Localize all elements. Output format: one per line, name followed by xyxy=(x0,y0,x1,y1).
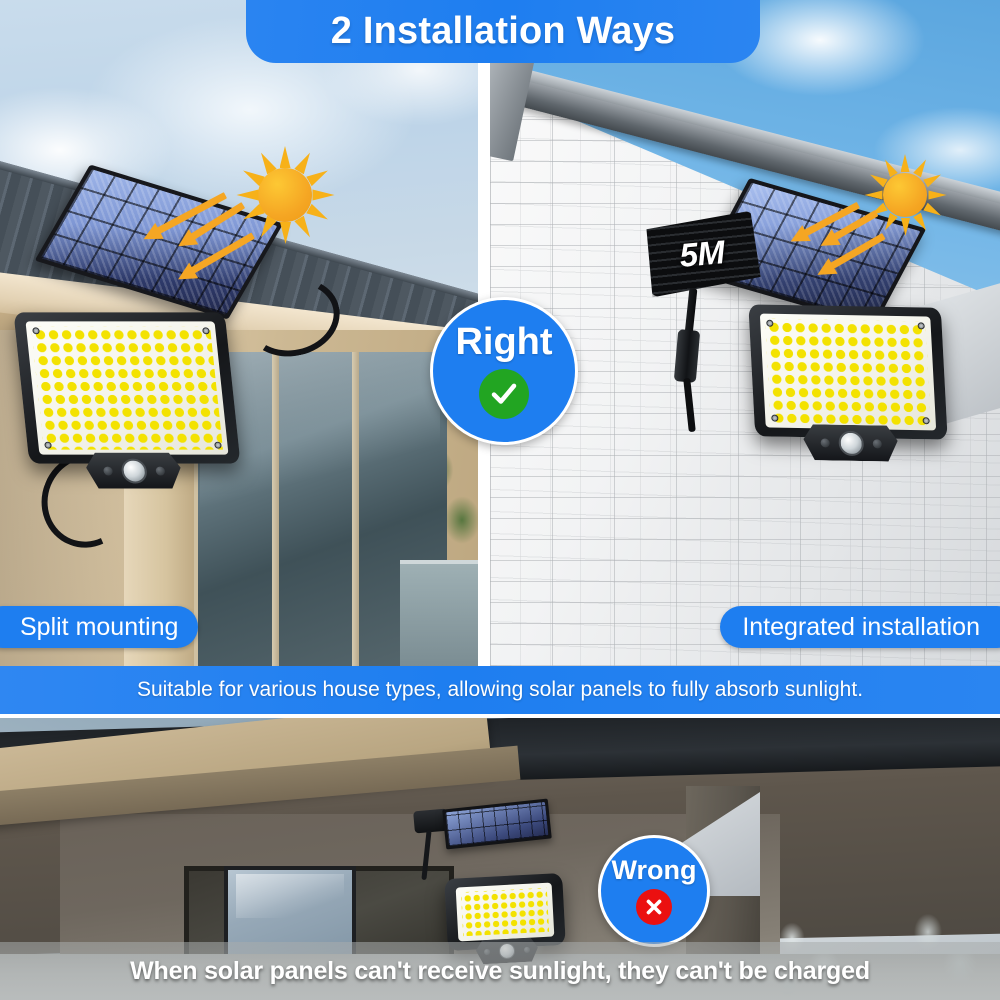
sensor-led xyxy=(820,438,829,447)
solar-panel-cells xyxy=(445,802,548,846)
page-title: 2 Installation Ways xyxy=(331,10,675,53)
middle-caption-band: Suitable for various house types, allowi… xyxy=(0,666,1000,714)
balcony-railing xyxy=(400,560,478,666)
cross-icon xyxy=(636,889,672,925)
title-banner: 2 Installation Ways xyxy=(246,0,760,63)
cable-connector xyxy=(674,329,700,383)
top-comparison-block: Split mounting xyxy=(0,0,1000,666)
sensor-led xyxy=(103,466,113,475)
led-floodlight xyxy=(13,312,240,463)
window-mullion xyxy=(352,352,359,666)
sensor-led xyxy=(872,439,881,448)
led-dot-array xyxy=(31,326,223,449)
sun-icon xyxy=(236,146,334,244)
pir-dome-icon xyxy=(838,430,864,455)
led-floodlight xyxy=(748,304,947,439)
led-panel-face xyxy=(760,314,936,431)
badge-label: Right xyxy=(455,323,552,361)
motion-sensor-module xyxy=(85,453,183,489)
section-divider xyxy=(0,714,1000,718)
caption-label: Integrated installation xyxy=(742,615,980,640)
led-dot-array xyxy=(461,888,549,936)
status-badge-wrong: Wrong xyxy=(598,835,710,947)
sun-core xyxy=(883,173,927,217)
panel-split-mounting: Split mounting xyxy=(0,0,478,666)
badge-label: Wrong xyxy=(612,857,697,884)
window-mullion xyxy=(272,352,279,666)
band-text: Suitable for various house types, allowi… xyxy=(137,678,863,702)
led-panel-face xyxy=(25,321,228,454)
bottom-caption-text: When solar panels can't receive sunlight… xyxy=(130,957,870,986)
check-icon xyxy=(479,369,529,419)
caption-split-mounting: Split mounting xyxy=(0,606,198,648)
pir-dome-icon xyxy=(120,458,148,483)
motion-sensor-module xyxy=(803,424,899,462)
led-panel-face xyxy=(456,883,555,942)
status-badge-right: Right xyxy=(430,297,578,445)
sensor-led xyxy=(155,466,165,475)
caption-label: Split mounting xyxy=(20,615,178,640)
sun-icon xyxy=(864,154,946,236)
infographic-page: Split mounting xyxy=(0,0,1000,1000)
sun-core xyxy=(258,168,312,222)
caption-integrated-installation: Integrated installation xyxy=(720,606,1000,648)
led-floodlight xyxy=(444,873,566,951)
bottom-caption-bar: When solar panels can't receive sunlight… xyxy=(0,942,1000,1000)
glass-highlight xyxy=(236,874,344,918)
led-dot-array xyxy=(765,319,931,426)
cable-length-label: 5M xyxy=(658,230,745,277)
